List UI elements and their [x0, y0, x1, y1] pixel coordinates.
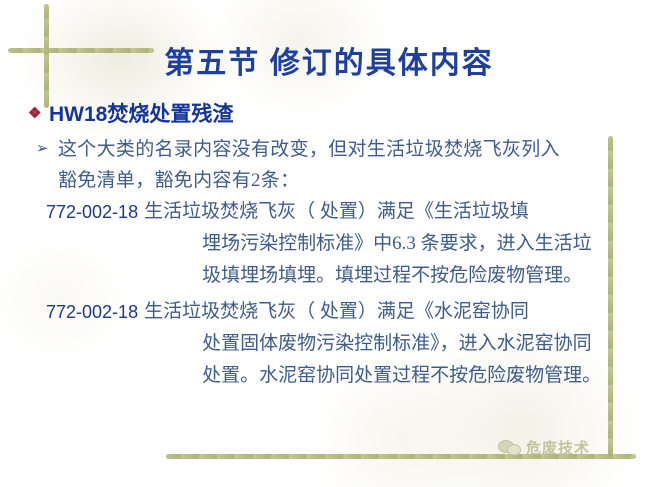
bullet-paragraph: ➢ 这个大类的名录内容没有改变，但对生活垃圾焚烧飞灰列入 豁免清单，豁免内容有2… — [0, 134, 658, 196]
waste-code-description: 生活垃圾焚烧飞灰（ 处置）满足《生活垃圾填 埋场污染控制标准》中6.3 条要求，… — [144, 196, 658, 292]
description-line: 埋场污染控制标准》中6.3 条要求，进入生活垃 — [144, 228, 600, 260]
arrow-bullet-icon: ➢ — [36, 134, 58, 165]
waste-code-description: 生活垃圾焚烧飞灰（ 处置）满足《水泥窑协同 处置固体废物污染控制标准》，进入水泥… — [144, 296, 658, 392]
description-line: 处置。水泥窑协同处置过程不按危险废物管理。 — [144, 360, 601, 392]
section-heading-label: HW18焚烧处置残渣 — [49, 98, 233, 128]
paragraph-line: 这个大类的名录内容没有改变，但对生活垃圾焚烧飞灰列入 — [58, 139, 560, 160]
waste-code: 772-002-18 — [46, 196, 138, 228]
watermark-label: 危废技术 — [526, 437, 590, 458]
diamond-bullet-icon: ❖ — [28, 107, 41, 120]
description-line: 处置固体废物污染控制标准》，进入水泥窑协同 — [144, 328, 601, 360]
bullet-paragraph-text: 这个大类的名录内容没有改变，但对生活垃圾焚烧飞灰列入 豁免清单，豁免内容有2条： — [58, 134, 658, 196]
waste-code: 772-002-18 — [46, 296, 138, 328]
watermark: 危废技术 — [498, 437, 590, 458]
description-line: 生活垃圾焚烧飞灰（ 处置）满足《生活垃圾填 — [144, 196, 600, 228]
section-heading: ❖ HW18焚烧处置残渣 — [28, 98, 233, 128]
slide-body: ➢ 这个大类的名录内容没有改变，但对生活垃圾焚烧飞灰列入 豁免清单，豁免内容有2… — [0, 134, 658, 392]
waste-code-entry: 772-002-18 生活垃圾焚烧飞灰（ 处置）满足《生活垃圾填 埋场污染控制标… — [0, 196, 658, 292]
paragraph-line: 豁免清单，豁免内容有2条： — [58, 170, 299, 191]
description-line: 生活垃圾焚烧飞灰（ 处置）满足《水泥窑协同 — [144, 296, 601, 328]
wechat-icon — [498, 439, 520, 456]
slide-title: 第五节 修订的具体内容 — [0, 38, 658, 82]
waste-code-entry: 772-002-18 生活垃圾焚烧飞灰（ 处置）满足《水泥窑协同 处置固体废物污… — [0, 296, 658, 392]
slide-canvas: 第五节 修订的具体内容 ❖ HW18焚烧处置残渣 ➢ 这个大类的名录内容没有改变… — [0, 0, 658, 487]
description-line: 圾填埋场填埋。填埋过程不按危险废物管理。 — [144, 260, 600, 292]
